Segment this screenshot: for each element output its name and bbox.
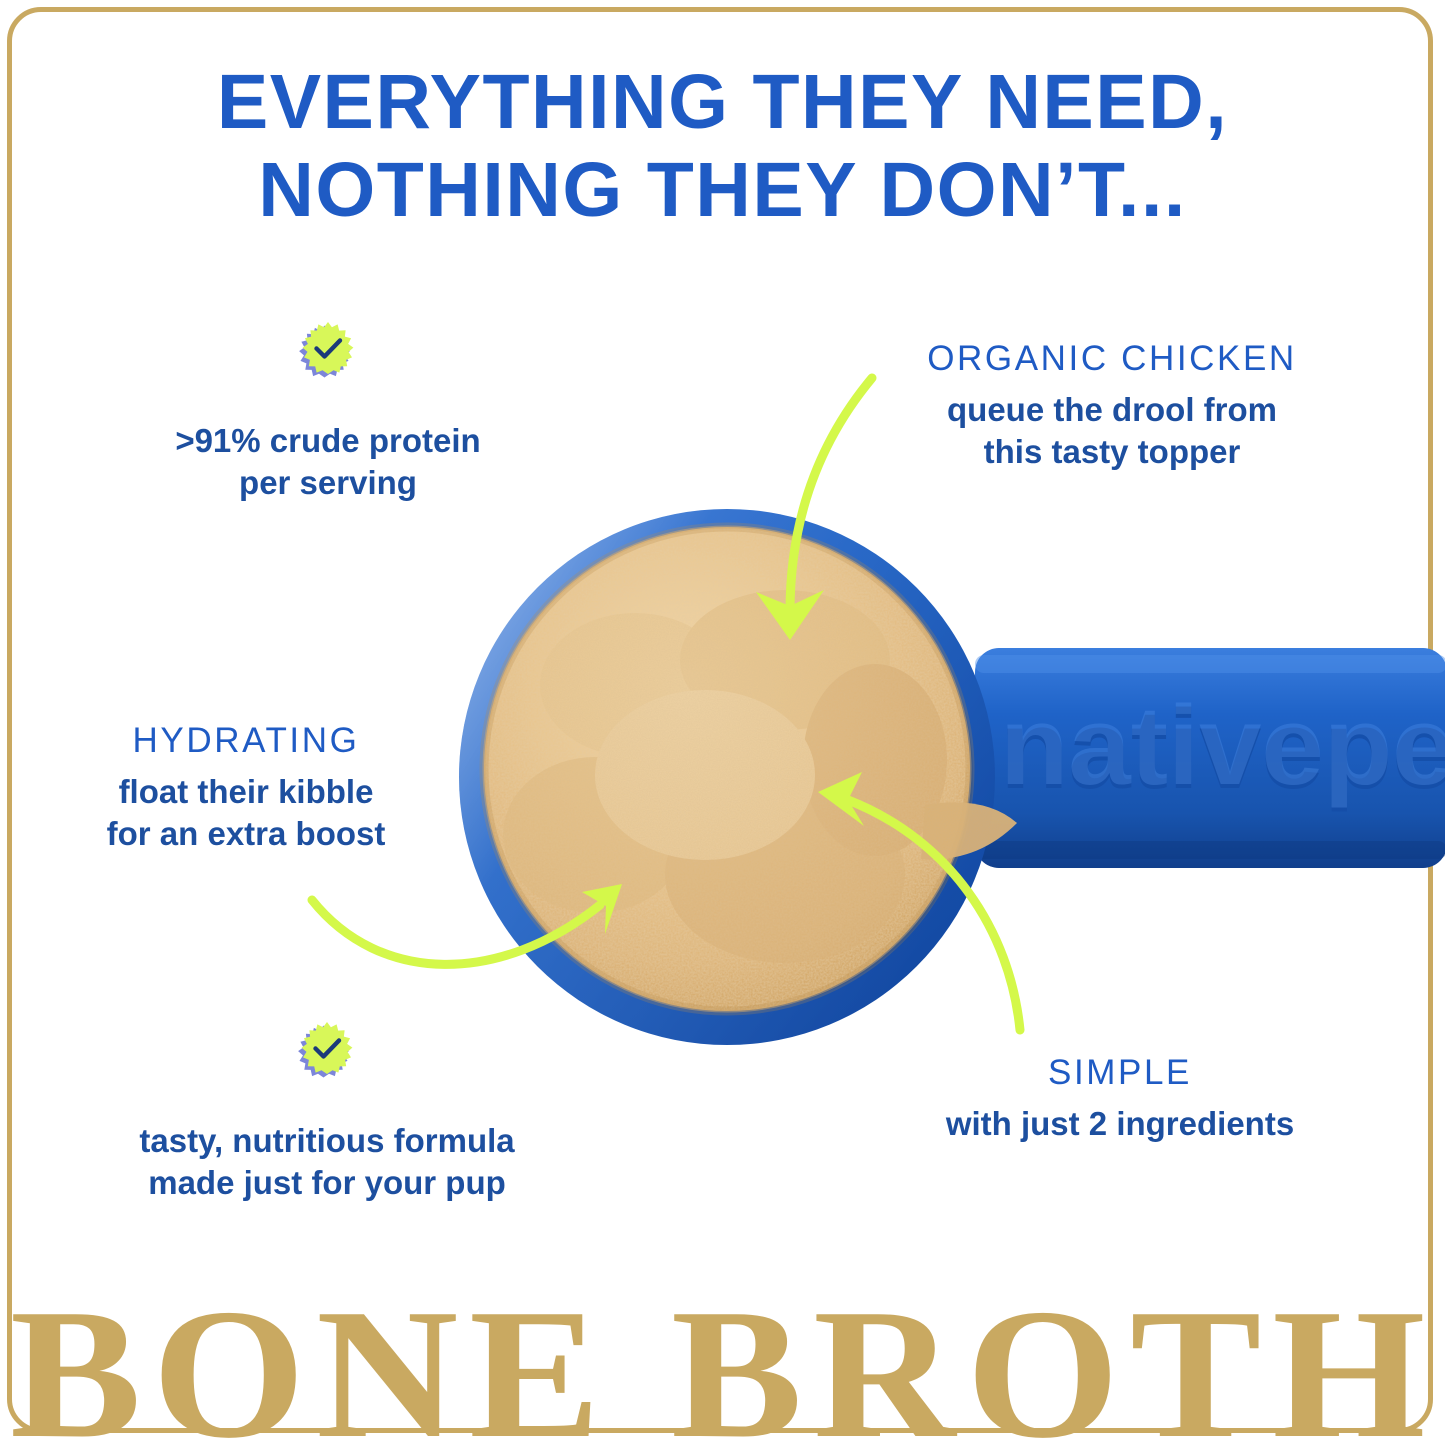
crude-protein-badge-text: >91% crude protein per serving (140, 420, 516, 504)
badge-text-line-1: tasty, nutritious formula (92, 1120, 562, 1162)
callout-body-line-1: queue the drool from (858, 389, 1366, 431)
callout-body-line-1: with just 2 ingredients (905, 1103, 1335, 1145)
callout-body-line-2: this tasty topper (858, 431, 1366, 473)
hydrating-body: float their kibble for an extra boost (50, 771, 442, 855)
organic-chicken-body: queue the drool from this tasty topper (858, 389, 1366, 473)
badge-text-line-1: >91% crude protein (140, 420, 516, 462)
scoop-illustration: nativepe nativepe (455, 505, 1445, 1050)
wordmark-text: BONE BROTH (9, 1297, 1435, 1445)
handle-brand-text-highlight: nativepe (1000, 683, 1445, 808)
page-title: EVERYTHING THEY NEED, NOTHING THEY DON’T… (0, 58, 1445, 234)
hydrating-title: HYDRATING (50, 720, 442, 762)
organic-chicken-callout: ORGANIC CHICKEN queue the drool from thi… (858, 338, 1366, 473)
handle-embossed-brand: nativepe nativepe (1000, 683, 1445, 812)
product-name-wordmark: BONE BROTH (0, 1297, 1445, 1445)
badge-text-line-2: per serving (140, 462, 516, 504)
simple-body: with just 2 ingredients (905, 1103, 1335, 1145)
product-infographic: EVERYTHING THEY NEED, NOTHING THEY DON’T… (0, 0, 1445, 1445)
crude-protein-badge: >91% crude protein per serving (140, 318, 516, 504)
measuring-scoop-with-bone-broth-powder: nativepe nativepe (455, 505, 1445, 1050)
callout-body-line-1: float their kibble (50, 771, 442, 813)
hydrating-callout: HYDRATING float their kibble for an extr… (50, 720, 442, 855)
organic-chicken-title: ORGANIC CHICKEN (858, 338, 1366, 380)
simple-title: SIMPLE (905, 1052, 1335, 1094)
check-starburst-shape (292, 318, 364, 390)
tasty-formula-badge-text: tasty, nutritious formula made just for … (92, 1120, 562, 1204)
check-starburst-icon (291, 1018, 363, 1090)
headline-line-1: EVERYTHING THEY NEED, (0, 58, 1445, 146)
scoop-handle: nativepe nativepe (975, 648, 1445, 868)
simple-callout: SIMPLE with just 2 ingredients (905, 1052, 1335, 1145)
badge-text-line-2: made just for your pup (92, 1162, 562, 1204)
check-starburst-icon (292, 318, 364, 390)
headline-line-2: NOTHING THEY DON’T... (0, 146, 1445, 234)
callout-body-line-2: for an extra boost (50, 813, 442, 855)
bone-broth-powder (484, 527, 970, 1011)
check-starburst-shape (291, 1018, 363, 1090)
